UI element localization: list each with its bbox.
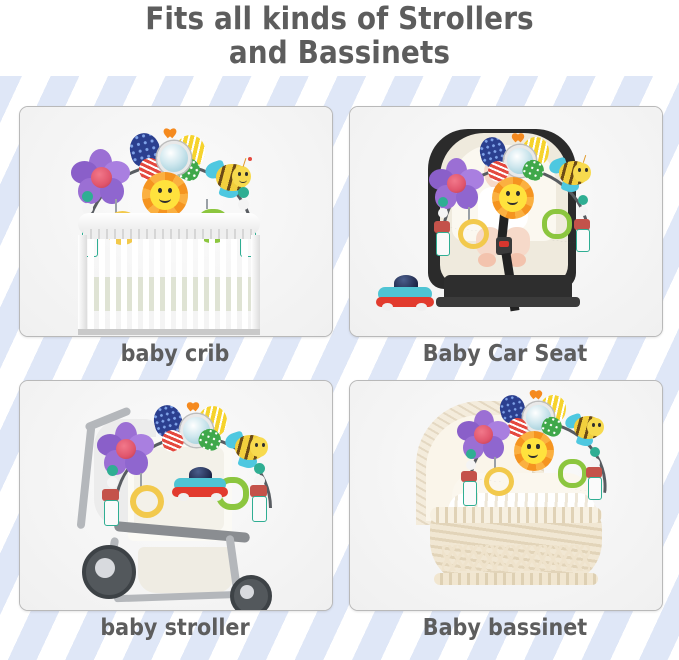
bead-green — [82, 191, 93, 202]
bee-icon — [204, 157, 256, 205]
flower-center — [116, 439, 136, 459]
bead-green-2 — [590, 447, 600, 457]
sun-icon — [514, 431, 554, 471]
clamp-left — [102, 489, 119, 525]
toy-spaceship-car — [376, 275, 434, 311]
crib-scene — [20, 107, 332, 336]
panel-crib — [19, 106, 333, 337]
bead-white — [438, 208, 448, 218]
toy-arch — [430, 131, 600, 241]
ring-yellow-icon — [484, 467, 514, 496]
page-title-line2: and Bassinets — [0, 36, 679, 70]
clamp-right — [574, 219, 590, 251]
bead-green-2 — [238, 187, 249, 198]
bead-green — [107, 465, 118, 476]
panel-car-seat — [349, 106, 663, 337]
panel-stroller — [19, 380, 333, 611]
bead-green — [438, 197, 448, 207]
mirror-icon — [157, 141, 191, 175]
page-title-line1: Fits all kinds of Strollers — [0, 2, 679, 36]
caption-stroller: baby stroller — [19, 615, 331, 641]
flower-center — [447, 174, 466, 193]
bead-green-2 — [254, 463, 265, 474]
toy-arch — [458, 389, 618, 499]
bead-white — [107, 477, 118, 488]
ring-yellow-icon — [458, 219, 489, 249]
heart-icon — [530, 389, 542, 399]
heart-icon — [164, 127, 178, 139]
crib-furniture — [78, 207, 260, 335]
ring-yellow-icon — [130, 485, 164, 518]
caption-crib: baby crib — [19, 341, 331, 367]
heart-icon — [512, 132, 525, 143]
flower-center — [91, 167, 112, 188]
toy-spaceship-car — [172, 467, 228, 501]
ring-green-icon — [542, 209, 572, 239]
clamp-right — [250, 485, 267, 521]
flower-center — [474, 425, 493, 444]
flower-purple-icon — [72, 150, 130, 206]
toy-arch — [98, 401, 278, 521]
stroller-scene — [20, 381, 332, 610]
caption-car-seat: Baby Car Seat — [349, 341, 661, 367]
heart-icon — [187, 401, 200, 412]
bee-icon — [548, 155, 596, 199]
bead-white-2 — [578, 206, 588, 216]
bead-green-2 — [578, 195, 588, 205]
panel-bassinet — [349, 380, 663, 611]
bee-icon — [224, 429, 274, 475]
ring-green-icon — [558, 459, 587, 488]
bead-white — [466, 460, 476, 470]
bee-icon — [564, 411, 610, 453]
page-title: Fits all kinds of Strollers and Bassinet… — [0, 2, 679, 70]
clamp-left — [461, 471, 477, 505]
clamp-left — [434, 221, 450, 255]
bassinet-scene — [350, 381, 662, 610]
sun-icon — [492, 177, 534, 219]
clamp-right — [586, 467, 602, 499]
car-seat-scene — [350, 107, 662, 336]
caption-bassinet: Baby bassinet — [349, 615, 661, 641]
bead-green — [466, 449, 476, 459]
